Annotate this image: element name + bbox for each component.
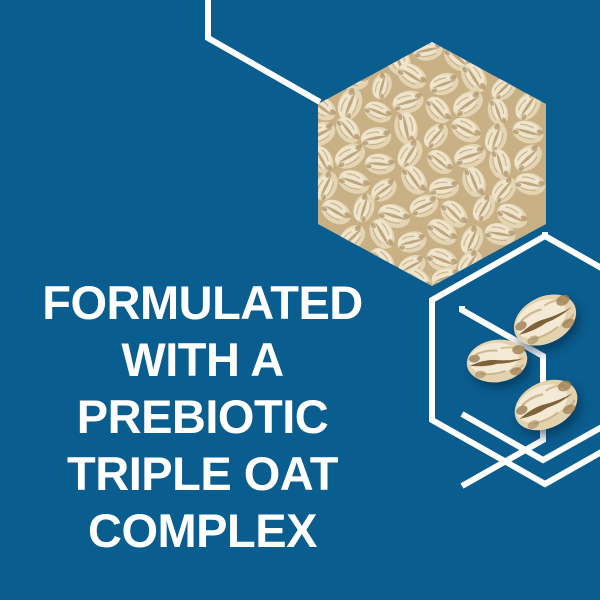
oat-flake-bottom <box>506 370 585 440</box>
headline-line-2: WITH A <box>30 331 375 388</box>
headline-block: FORMULATED WITH A PREBIOTIC TRIPLE OAT C… <box>30 274 375 559</box>
headline-line-3: PREBIOTIC <box>30 388 375 445</box>
headline-line-5: COMPLEX <box>30 502 375 559</box>
headline-line-1: FORMULATED <box>30 274 375 331</box>
promo-banner: FORMULATED WITH A PREBIOTIC TRIPLE OAT C… <box>0 0 600 600</box>
oat-flake-left <box>464 336 530 386</box>
headline-line-4: TRIPLE OAT <box>30 445 375 502</box>
